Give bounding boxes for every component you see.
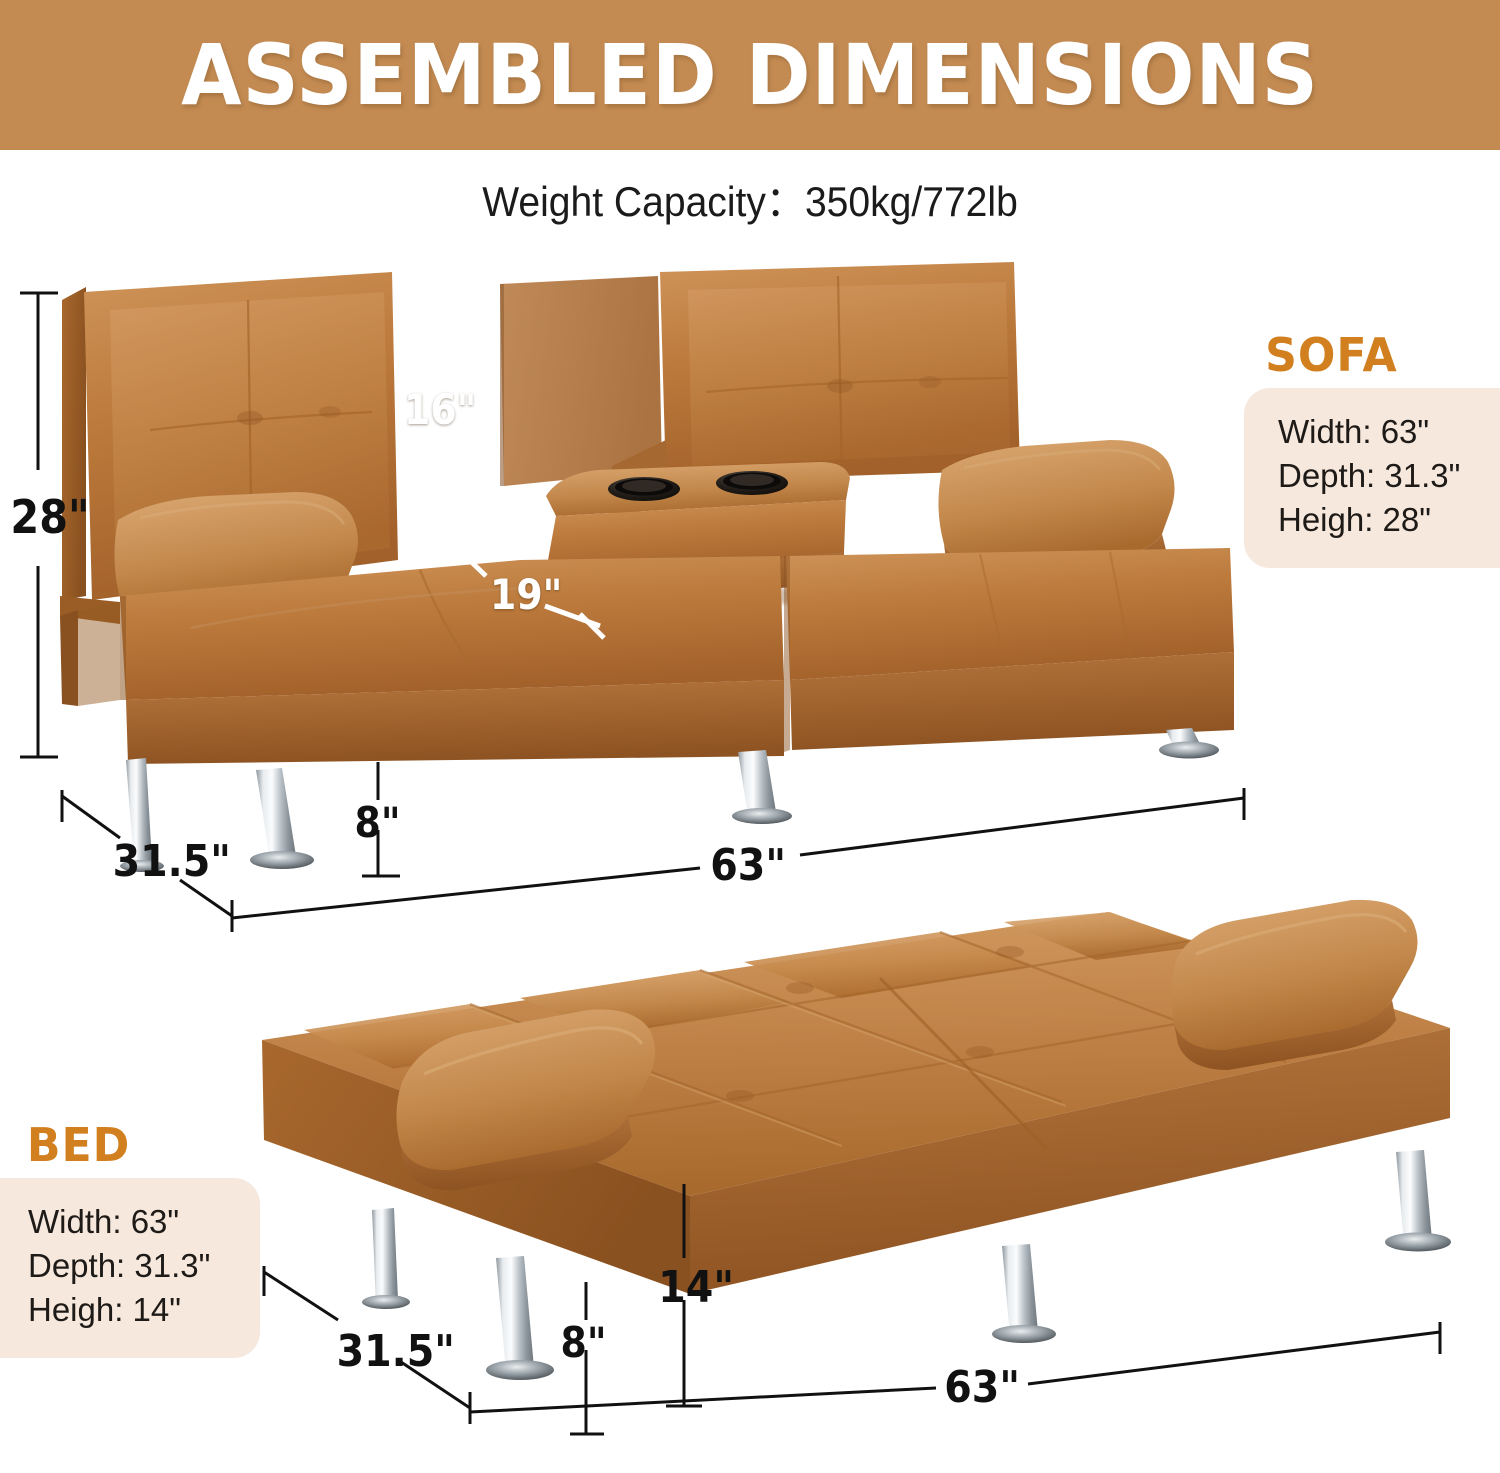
metal-leg-icon <box>732 750 792 824</box>
metal-leg-icon <box>1159 728 1219 759</box>
bed-depth-row: Depth: 31.3" <box>28 1244 230 1288</box>
metal-leg-icon <box>362 1208 410 1309</box>
sofa-depth-label: 31.5" <box>113 836 231 887</box>
bed-card-heading: BED <box>0 1118 250 1172</box>
sofa-card-body: Width: 63" Depth: 31.3" Heigh: 28" <box>1244 388 1500 568</box>
sofa-width-label: 63" <box>710 840 786 891</box>
bed-depth-label: 31.5" <box>337 1326 455 1377</box>
bed-info-card: BED Width: 63" Depth: 31.3" Heigh: 14" <box>0 1118 260 1358</box>
bed-height-label: 14" <box>658 1262 734 1313</box>
sofa-backrest-label: 16" <box>404 385 476 434</box>
bed-width-label: 63" <box>944 1362 1020 1413</box>
bed-width-row: Width: 63" <box>28 1200 230 1244</box>
sofa-width-row: Width: 63" <box>1278 410 1470 454</box>
metal-leg-icon <box>250 768 314 869</box>
bed-leg-height-label: 8" <box>561 1318 607 1367</box>
sofa-seat-depth-label: 19" <box>490 570 562 619</box>
sofa-height-label: 28" <box>10 490 89 544</box>
sofa-height-row: Heigh: 28" <box>1278 498 1470 542</box>
sofa-card-heading: SOFA <box>1244 328 1490 382</box>
metal-leg-icon <box>1385 1150 1451 1252</box>
sofa-leg-height-label: 8" <box>355 798 401 847</box>
metal-leg-icon <box>992 1244 1056 1343</box>
bed-height-row: Heigh: 14" <box>28 1288 230 1332</box>
metal-leg-icon <box>486 1256 554 1380</box>
sofa-illustration <box>60 262 1234 872</box>
bed-illustration <box>262 900 1451 1380</box>
bed-card-body: Width: 63" Depth: 31.3" Heigh: 14" <box>0 1178 260 1358</box>
sofa-info-card: SOFA Width: 63" Depth: 31.3" Heigh: 28" <box>1244 328 1500 568</box>
sofa-depth-row: Depth: 31.3" <box>1278 454 1470 498</box>
